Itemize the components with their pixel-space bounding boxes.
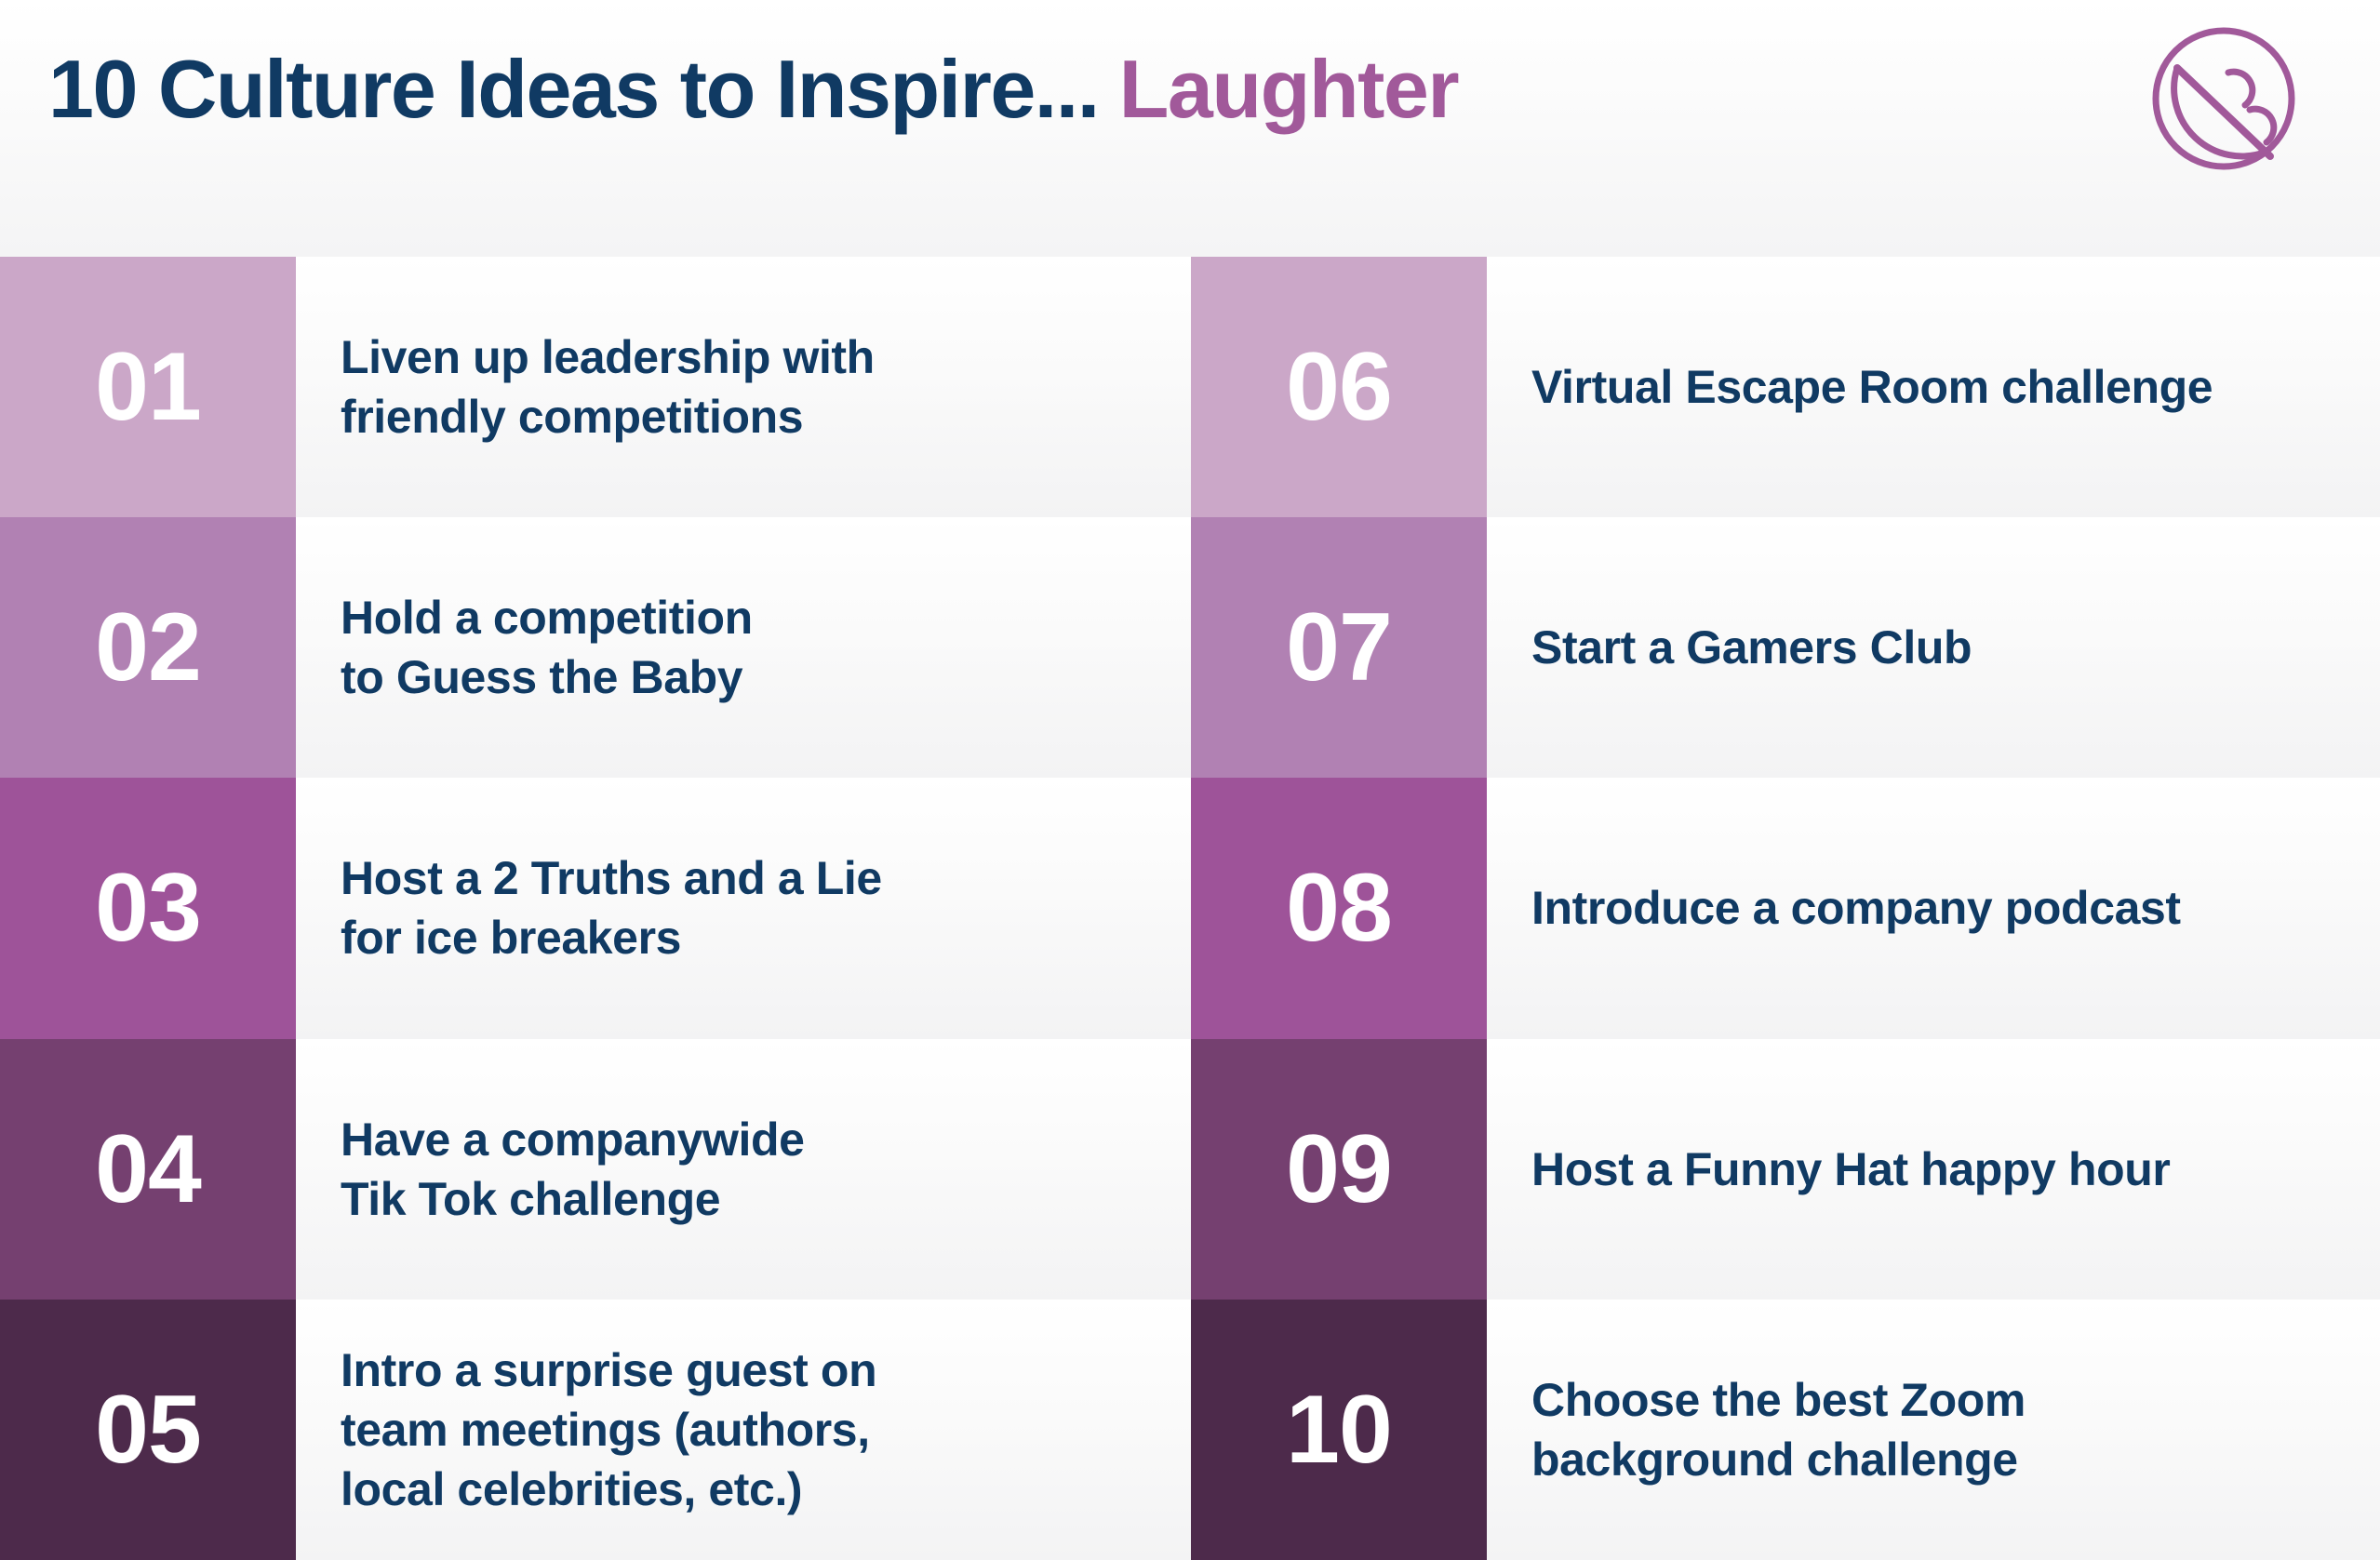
idea-number-block: 04 [0, 1039, 296, 1300]
idea-row: 02 Hold a competition to Guess the Baby [0, 517, 1190, 778]
ideas-column-right: 06 Virtual Escape Room challenge 07 Star… [1190, 257, 2380, 1560]
idea-text: Choose the best Zoom background challeng… [1487, 1300, 2380, 1560]
idea-row: 06 Virtual Escape Room challenge [1190, 257, 2380, 517]
idea-number: 05 [95, 1381, 201, 1478]
idea-number-block: 05 [0, 1300, 296, 1560]
idea-row: 05 Intro a surprise guest on team meetin… [0, 1300, 1190, 1560]
page-title: 10 Culture Ideas to Inspire...Laughter [48, 47, 1458, 132]
idea-number: 07 [1286, 599, 1392, 696]
idea-text: Start a Gamers Club [1487, 517, 2380, 778]
idea-row: 01 Liven up leadership with friendly com… [0, 257, 1190, 517]
idea-text: Host a Funny Hat happy hour [1487, 1039, 2380, 1300]
idea-number-block: 08 [1191, 778, 1487, 1038]
idea-number-block: 10 [1191, 1300, 1487, 1560]
idea-number-block: 06 [1191, 257, 1487, 517]
idea-number-block: 07 [1191, 517, 1487, 778]
idea-row: 07 Start a Gamers Club [1190, 517, 2380, 778]
idea-row: 09 Host a Funny Hat happy hour [1190, 1039, 2380, 1300]
ideas-column-left: 01 Liven up leadership with friendly com… [0, 257, 1190, 1560]
idea-number: 10 [1286, 1381, 1392, 1478]
idea-text: Introduce a company podcast [1487, 778, 2380, 1038]
idea-text: Have a companywide Tik Tok challenge [296, 1039, 1190, 1300]
idea-row: 04 Have a companywide Tik Tok challenge [0, 1039, 1190, 1300]
idea-row: 03 Host a 2 Truths and a Lie for ice bre… [0, 778, 1190, 1038]
idea-text: Virtual Escape Room challenge [1487, 257, 2380, 517]
idea-number: 02 [95, 599, 201, 696]
idea-text: Intro a surprise guest on team meetings … [296, 1300, 1190, 1560]
page-title-main: 10 Culture Ideas to Inspire... [48, 43, 1099, 135]
idea-number: 08 [1286, 860, 1392, 956]
idea-row: 08 Introduce a company podcast [1190, 778, 2380, 1038]
idea-number: 04 [95, 1121, 201, 1218]
idea-text: Liven up leadership with friendly compet… [296, 257, 1190, 517]
idea-number: 09 [1286, 1121, 1392, 1218]
ideas-grid: 01 Liven up leadership with friendly com… [0, 257, 2380, 1560]
idea-number-block: 03 [0, 778, 296, 1038]
no-laughing-face-logo [2140, 15, 2307, 182]
idea-number-block: 09 [1191, 1039, 1487, 1300]
idea-number-block: 01 [0, 257, 296, 517]
idea-number: 01 [95, 339, 201, 435]
header-banner: 10 Culture Ideas to Inspire...Laughter [0, 0, 2380, 257]
idea-text: Host a 2 Truths and a Lie for ice breake… [296, 778, 1190, 1038]
page-title-accent: Laughter [1119, 43, 1458, 135]
idea-number: 03 [95, 860, 201, 956]
idea-number-block: 02 [0, 517, 296, 778]
idea-row: 10 Choose the best Zoom background chall… [1190, 1300, 2380, 1560]
idea-text: Hold a competition to Guess the Baby [296, 517, 1190, 778]
idea-number: 06 [1286, 339, 1392, 435]
